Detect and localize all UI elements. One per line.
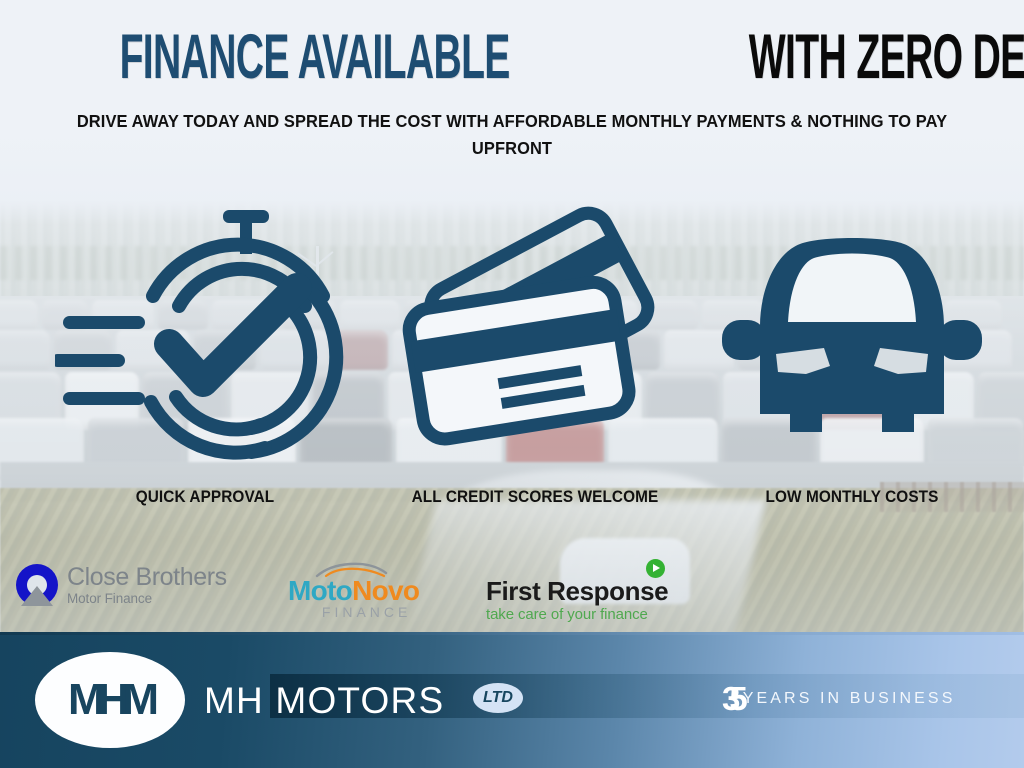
feature-label: LOW MONTHLY COSTS — [685, 488, 1020, 507]
ltd-label: LTD — [483, 689, 513, 707]
car-windscreen — [788, 254, 916, 323]
finance-partner-logos: Close Brothers Motor Finance MotoNovo FI… — [0, 556, 1024, 632]
close-brothers-mark-icon — [16, 564, 58, 606]
brand-name: MH MOTORS — [204, 682, 444, 719]
logo-subtitle: Motor Finance — [67, 592, 227, 606]
footer-divider — [0, 632, 1024, 635]
mhm-monogram: MHM — [68, 678, 152, 722]
feature-label: QUICK APPROVAL — [33, 488, 377, 507]
years-number: 35 — [722, 684, 737, 714]
page-title: FINANCE AVAILABLEWITH ZERO DEPOSIT — [0, 26, 1024, 89]
logo-first-response: First Response take care of your finance — [486, 560, 668, 624]
logo-title: First Response — [486, 576, 668, 606]
car-front-icon — [702, 196, 1002, 476]
logo-motonovo-finance: MotoNovo FINANCE — [288, 560, 419, 620]
footer-brand-bar: MHM MH MOTORS LTD 35 YEARS IN BUSINESS — [0, 632, 1024, 768]
subtitle-line-1: DRIVE AWAY TODAY AND SPREAD THE COST WIT… — [47, 108, 978, 135]
logo-word-novo: Novo — [352, 575, 419, 606]
logo-subtitle: take care of your finance — [486, 606, 668, 624]
finance-promo-banner: FINANCE AVAILABLEWITH ZERO DEPOSIT DRIVE… — [0, 0, 1024, 768]
subtitle-line-2: UPFRONT — [47, 135, 978, 162]
logo-close-brothers-motor-finance: Close Brothers Motor Finance — [16, 564, 227, 606]
feature-label: ALL CREDIT SCORES WELCOME — [368, 488, 703, 507]
headline-part-black: WITH ZERO DEPOSIT — [749, 26, 1024, 89]
feature-quick-approval: QUICK APPROVAL — [20, 196, 390, 476]
credit-cards-icon — [385, 196, 685, 476]
headline-part-blue: FINANCE AVAILABLE — [120, 26, 510, 89]
stopwatch-check-icon — [55, 196, 355, 476]
logo-subtitle: FINANCE — [314, 604, 419, 620]
years-label: YEARS IN BUSINESS — [743, 690, 956, 708]
logo-title: Close Brothers — [67, 565, 227, 590]
ltd-badge: LTD — [473, 683, 523, 713]
feature-low-monthly-costs: LOW MONTHLY COSTS — [672, 196, 1024, 476]
page-subtitle: DRIVE AWAY TODAY AND SPREAD THE COST WIT… — [17, 108, 1007, 162]
mhm-logo-badge: MHM — [35, 652, 185, 748]
feature-all-credit-scores: ALL CREDIT SCORES WELCOME — [355, 196, 715, 476]
years-in-business: 35 YEARS IN BUSINESS — [722, 684, 955, 714]
play-icon — [646, 559, 665, 578]
logo-word-moto: Moto — [288, 575, 352, 606]
feature-list: QUICK APPROVAL ALL CREDIT SCORES WELCOME — [0, 196, 1024, 526]
